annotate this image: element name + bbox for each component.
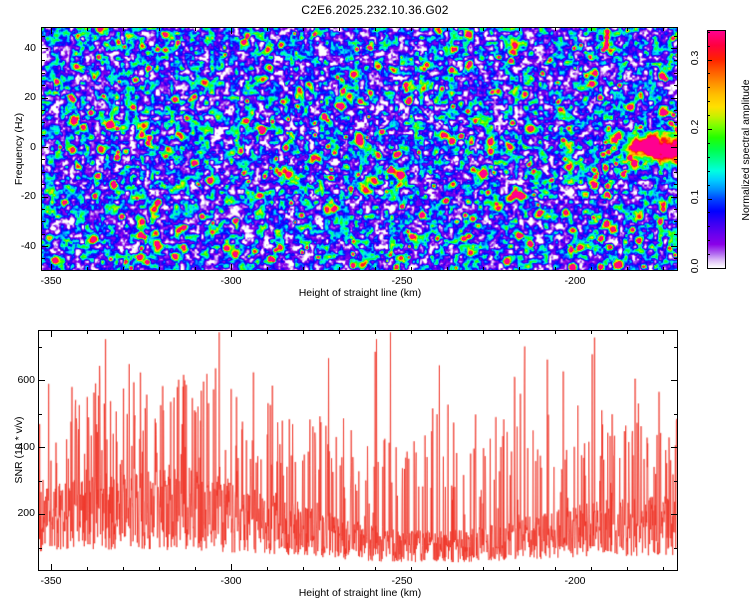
spec-ytick [674, 73, 677, 74]
snr-xtick-label: -200 [564, 575, 585, 587]
spec-ytick [42, 48, 48, 49]
spec-ytick [674, 85, 677, 86]
spec-xtick [339, 267, 340, 270]
snr-xtick [231, 331, 232, 337]
spec-ytick [42, 122, 45, 123]
spec-xtick [123, 267, 124, 270]
spec-ytick [674, 122, 677, 123]
snr-xtick [195, 567, 196, 570]
spec-ytick [42, 147, 48, 148]
spec-ytick [674, 60, 677, 61]
spec-xtick [663, 267, 664, 270]
colorbar-tick-label: 0.0 [689, 259, 701, 274]
snr-trace [39, 331, 677, 570]
colorbar-minor-tick [707, 240, 710, 241]
spec-ytick-label: 20 [18, 91, 36, 103]
spec-ytick [671, 98, 677, 99]
snr-xtick [663, 331, 664, 334]
snr-xtick [591, 331, 592, 334]
colorbar-tick-label: 0.2 [689, 120, 701, 135]
figure-canvas: C2E6.2025.232.10.36.G02 40 20 0 -20 -40 … [0, 0, 750, 600]
spec-ytick [671, 147, 677, 148]
colorbar-minor-tick [707, 73, 710, 74]
colorbar-minor-tick [707, 212, 710, 213]
spec-ytick [674, 221, 677, 222]
spec-yaxis-title: Frequency (Hz) [13, 113, 25, 185]
spec-ytick [42, 221, 45, 222]
spec-xtick [483, 28, 484, 31]
spec-xtick [375, 28, 376, 31]
colorbar [707, 30, 726, 269]
spec-xtick [519, 267, 520, 270]
colorbar-tick-label: 0.1 [689, 190, 701, 205]
spec-ytick [42, 36, 45, 37]
snr-xtick [519, 331, 520, 334]
spec-xtick [303, 28, 304, 31]
spec-xtick-label: -300 [220, 275, 241, 287]
colorbar-minor-tick [707, 143, 710, 144]
spectrogram-image [42, 28, 677, 270]
colorbar-minor-tick [707, 171, 710, 172]
snr-ytick [39, 380, 45, 381]
spec-xtick [87, 267, 88, 270]
spec-ytick [42, 197, 48, 198]
spec-ytick [42, 159, 45, 160]
snr-ytick [671, 514, 677, 515]
snr-xtick [519, 567, 520, 570]
snr-xtick [159, 331, 160, 334]
snr-ytick [39, 481, 42, 482]
spec-xtick-label: -200 [564, 275, 585, 287]
spec-ytick [674, 135, 677, 136]
snr-ytick [674, 481, 677, 482]
spec-xtick [447, 28, 448, 31]
snr-xtick [591, 567, 592, 570]
spec-ytick [42, 184, 45, 185]
snr-xtick [339, 567, 340, 570]
spec-xtick [339, 28, 340, 31]
colorbar-minor-tick [707, 115, 710, 116]
spec-ytick [42, 172, 45, 173]
snr-xtick-label: -350 [40, 575, 61, 587]
snr-xtick [123, 331, 124, 334]
snr-xtick [303, 331, 304, 334]
snr-xtick-label: -250 [391, 575, 412, 587]
spec-xtick [159, 28, 160, 31]
colorbar-minor-tick [707, 32, 710, 33]
spec-xtick [51, 28, 52, 34]
spec-xtick [555, 267, 556, 270]
spec-xtick [591, 267, 592, 270]
spec-ytick [674, 184, 677, 185]
spec-xtick [303, 267, 304, 270]
snr-ytick [39, 347, 42, 348]
spec-ytick [42, 73, 45, 74]
snr-xtick [555, 567, 556, 570]
spec-ytick [671, 246, 677, 247]
snr-xtick [375, 567, 376, 570]
spec-ytick-label: -20 [12, 190, 36, 202]
spec-xtick [231, 264, 232, 270]
spec-xtick [519, 28, 520, 31]
snr-ytick [674, 414, 677, 415]
snr-xtick [447, 567, 448, 570]
snr-xtick [195, 331, 196, 334]
snr-xtick [123, 567, 124, 570]
spec-ytick [42, 258, 45, 259]
spec-xtick [123, 28, 124, 31]
snr-xtick [411, 567, 412, 570]
spec-ytick [42, 209, 45, 210]
snr-xtick [51, 331, 52, 337]
snr-ytick [39, 447, 45, 448]
snr-xtick [483, 331, 484, 334]
colorbar-minor-tick [707, 157, 710, 158]
colorbar-tick [707, 129, 712, 130]
snr-ytick [39, 514, 45, 515]
snr-ytick-label: 600 [9, 374, 35, 386]
spec-ytick [42, 98, 48, 99]
spec-xtick [411, 28, 412, 31]
spec-ytick [674, 209, 677, 210]
snr-xaxis-title: Height of straight line (km) [299, 587, 422, 599]
spec-ytick-label: 40 [18, 42, 36, 54]
spec-xtick [267, 267, 268, 270]
snr-yaxis-title: SNR (10 * v/v) [13, 416, 25, 483]
spec-xtick [375, 267, 376, 270]
spec-ytick [42, 246, 48, 247]
snr-xtick [231, 564, 232, 570]
colorbar-title: Normalized spectral amplitude [740, 79, 750, 220]
snr-ytick [671, 380, 677, 381]
spec-ytick-label: -40 [12, 240, 36, 252]
snr-xtick-label: -300 [220, 575, 241, 587]
snr-xtick [447, 331, 448, 334]
colorbar-tick [707, 268, 712, 269]
snr-xtick [375, 331, 376, 334]
spec-xtick [195, 267, 196, 270]
page-title: C2E6.2025.232.10.36.G02 [0, 3, 750, 17]
snr-panel [38, 330, 678, 571]
spec-ytick [671, 197, 677, 198]
snr-xtick [627, 567, 628, 570]
snr-ytick [674, 347, 677, 348]
colorbar-tick [707, 60, 712, 61]
spec-xtick [483, 267, 484, 270]
snr-ytick [674, 548, 677, 549]
snr-ytick [39, 414, 42, 415]
snr-xtick [663, 567, 664, 570]
spec-ytick [42, 135, 45, 136]
spec-xtick [159, 267, 160, 270]
spec-xaxis-title: Height of straight line (km) [299, 287, 422, 299]
colorbar-minor-tick [707, 226, 710, 227]
spec-ytick [42, 60, 45, 61]
spec-xtick [267, 28, 268, 31]
spec-xtick [447, 267, 448, 270]
colorbar-minor-tick [707, 87, 710, 88]
snr-xtick [627, 331, 628, 334]
snr-xtick [411, 331, 412, 334]
spectrogram-panel [41, 27, 678, 271]
spec-ytick [674, 36, 677, 37]
spec-ytick [42, 110, 45, 111]
snr-xtick [87, 567, 88, 570]
spec-xtick [663, 28, 664, 31]
snr-xtick [303, 567, 304, 570]
snr-xtick [51, 564, 52, 570]
spec-xtick [51, 264, 52, 270]
spec-ytick [674, 234, 677, 235]
spec-xtick [87, 28, 88, 31]
spec-xtick-label: -250 [391, 275, 412, 287]
snr-xtick [159, 567, 160, 570]
spec-xtick [591, 28, 592, 31]
spec-xtick [231, 28, 232, 34]
colorbar-minor-tick [707, 254, 710, 255]
snr-xtick [267, 331, 268, 334]
spec-xtick [411, 267, 412, 270]
colorbar-minor-tick [707, 101, 710, 102]
spec-ytick [674, 258, 677, 259]
colorbar-tick [707, 199, 712, 200]
snr-ytick-label: 200 [9, 507, 35, 519]
snr-xtick [339, 331, 340, 334]
snr-xtick [87, 331, 88, 334]
spec-ytick [42, 234, 45, 235]
colorbar-minor-tick [707, 185, 710, 186]
snr-xtick [483, 567, 484, 570]
snr-ytick [39, 548, 42, 549]
spec-ytick [674, 159, 677, 160]
snr-ytick [671, 447, 677, 448]
spec-ytick [671, 48, 677, 49]
spec-xtick [627, 267, 628, 270]
snr-xtick [555, 331, 556, 334]
spec-xtick [195, 28, 196, 31]
spec-ytick [674, 172, 677, 173]
spec-xtick-label: -350 [40, 275, 61, 287]
spec-xtick [627, 28, 628, 31]
snr-xtick [267, 567, 268, 570]
spec-ytick [674, 110, 677, 111]
spec-ytick [42, 85, 45, 86]
spec-xtick [555, 28, 556, 31]
colorbar-tick-label: 0.3 [689, 51, 701, 66]
colorbar-minor-tick [707, 46, 710, 47]
